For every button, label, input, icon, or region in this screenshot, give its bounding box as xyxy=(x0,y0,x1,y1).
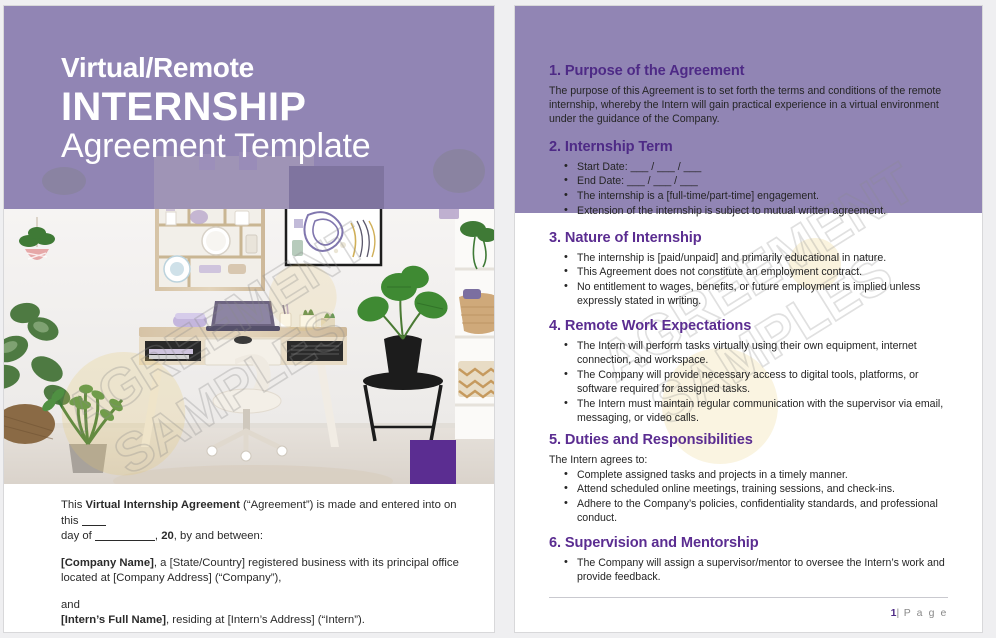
list-item: The internship is a [full-time/part-time… xyxy=(577,189,948,203)
section-6-supervision: 6. Supervision and Mentorship The Compan… xyxy=(549,535,948,585)
intro-year: 20 xyxy=(161,530,174,542)
intro-paragraph-4: [Intern’s Full Name], residing at [Inter… xyxy=(61,613,464,629)
intern-name-placeholder: [Intern’s Full Name] xyxy=(61,614,166,626)
intro-and: and xyxy=(61,598,464,614)
page-right-terms: AGREEMENT SAMPLES 1. Purpose of the Agre… xyxy=(514,5,983,633)
intro-text-block: This Virtual Internship Agreement (“Agre… xyxy=(61,498,464,629)
section-2-term: 2. Internship Term Start Date: ___ / ___… xyxy=(549,139,948,219)
list-item: The Intern will perform tasks virtually … xyxy=(577,339,948,368)
list-item: Adhere to the Company’s policies, confid… xyxy=(577,497,948,526)
cover-title-line1: Virtual/Remote xyxy=(61,54,371,82)
date-blank-day xyxy=(82,525,106,526)
list-item: The Intern must maintain regular communi… xyxy=(577,397,948,426)
list-item: Attend scheduled online meetings, traini… xyxy=(577,482,948,496)
section-1-heading: 1. Purpose of the Agreement xyxy=(549,63,948,81)
section-3-heading: 3. Nature of Internship xyxy=(549,230,948,248)
intro-p1-a: This xyxy=(61,499,85,511)
intro-agreement-name: Virtual Internship Agreement xyxy=(85,499,239,511)
list-item: This Agreement does not constitute an em… xyxy=(577,265,948,279)
footer-page-label: P a g e xyxy=(904,607,948,619)
section-2-bullets: Start Date: ___ / ___ / ___ End Date: __… xyxy=(549,160,948,219)
list-item: Extension of the internship is subject t… xyxy=(577,204,948,218)
section-5-paragraph: The Intern agrees to: xyxy=(549,453,948,467)
cover-title-line3: Agreement Template xyxy=(61,129,371,163)
section-1-paragraph: The purpose of this Agreement is to set … xyxy=(549,84,948,126)
section-2-heading: 2. Internship Term xyxy=(549,139,948,157)
section-4-heading: 4. Remote Work Expectations xyxy=(549,318,948,336)
company-name-placeholder: [Company Name] xyxy=(61,557,154,569)
document-spread: Virtual/Remote INTERNSHIP Agreement Temp… xyxy=(0,0,996,638)
section-6-bullets: The Company will assign a supervisor/men… xyxy=(549,556,948,585)
list-item: The internship is [paid/unpaid] and prim… xyxy=(577,251,948,265)
intro-p1-g: , by and between: xyxy=(174,530,263,542)
list-item: End Date: ___ / ___ / ___ xyxy=(577,174,948,188)
list-item: No entitlement to wages, benefits, or fu… xyxy=(577,280,948,309)
accent-square xyxy=(410,440,456,484)
intro-paragraph-2: [Company Name], a [State/Country] regist… xyxy=(61,556,464,587)
footer-divider xyxy=(549,597,948,598)
cover-title: Virtual/Remote INTERNSHIP Agreement Temp… xyxy=(61,54,371,163)
section-4-remote-work: 4. Remote Work Expectations The Intern w… xyxy=(549,318,948,426)
cover-hero-band: Virtual/Remote INTERNSHIP Agreement Temp… xyxy=(4,6,494,209)
intro-paragraph-1: This Virtual Internship Agreement (“Agre… xyxy=(61,498,464,545)
intro-p1-d: day of xyxy=(61,530,95,542)
section-3-bullets: The internship is [paid/unpaid] and prim… xyxy=(549,251,948,309)
intro-p4-b: , residing at [Intern’s Address] (“Inter… xyxy=(166,614,365,626)
section-5-bullets: Complete assigned tasks and projects in … xyxy=(549,468,948,526)
list-item: The Company will provide necessary acces… xyxy=(577,368,948,397)
section-5-heading: 5. Duties and Responsibilities xyxy=(549,432,948,450)
cover-photo: AGREEMENT SAMPLES xyxy=(4,209,494,484)
section-5-duties: 5. Duties and Responsibilities The Inter… xyxy=(549,432,948,526)
date-blank-month xyxy=(95,540,155,541)
list-item: Start Date: ___ / ___ / ___ xyxy=(577,160,948,174)
section-3-nature: 3. Nature of Internship The internship i… xyxy=(549,230,948,309)
list-item: The Company will assign a supervisor/men… xyxy=(577,556,948,585)
footer-separator: | xyxy=(896,607,899,619)
cover-title-line2: INTERNSHIP xyxy=(61,87,371,127)
page-left-cover: Virtual/Remote INTERNSHIP Agreement Temp… xyxy=(3,5,495,633)
section-4-bullets: The Intern will perform tasks virtually … xyxy=(549,339,948,426)
page-footer: 1| P a g e xyxy=(891,607,948,619)
section-1-purpose: 1. Purpose of the Agreement The purpose … xyxy=(549,63,948,126)
list-item: Complete assigned tasks and projects in … xyxy=(577,468,948,482)
section-6-heading: 6. Supervision and Mentorship xyxy=(549,535,948,553)
